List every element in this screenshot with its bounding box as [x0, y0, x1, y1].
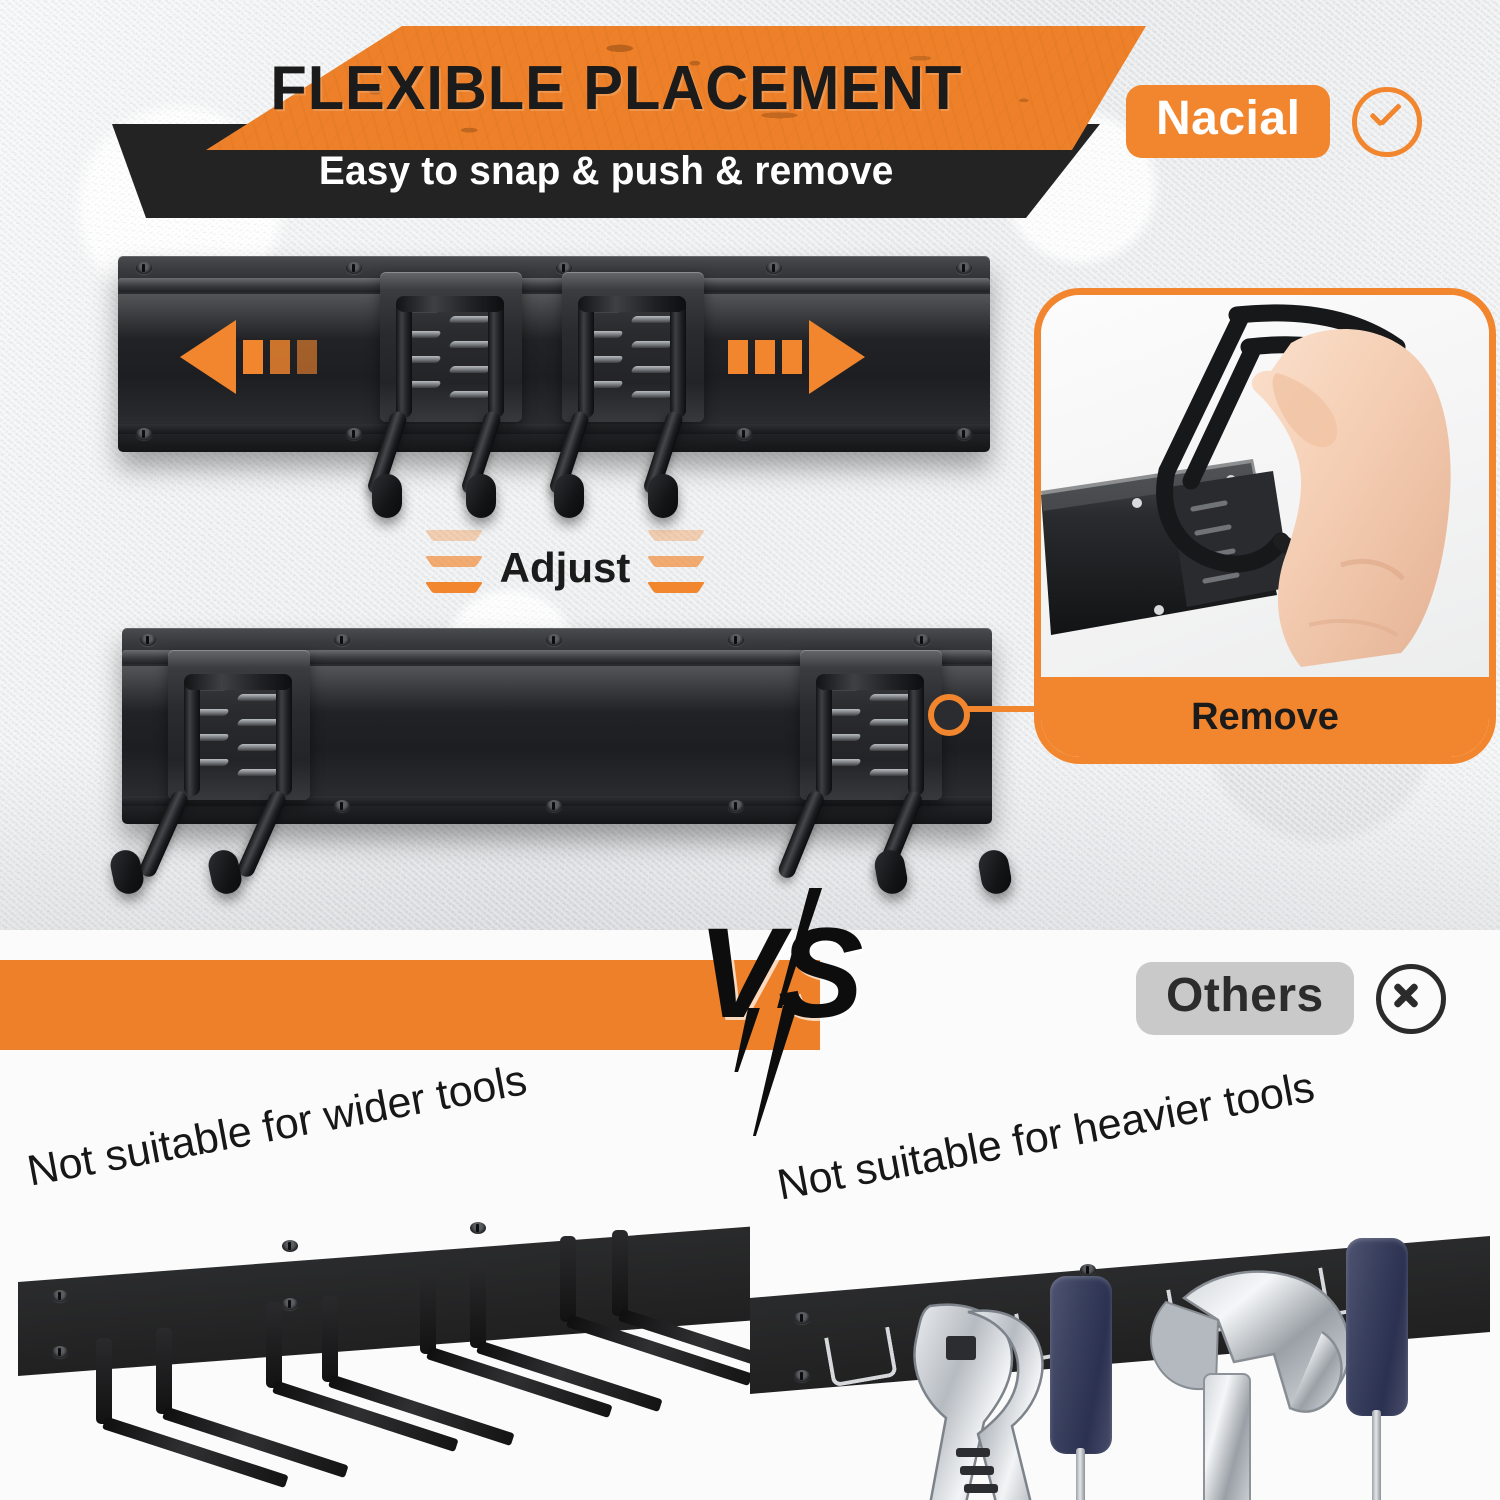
adjust-indicator: Adjust: [415, 520, 715, 616]
arrow-right-icon: [728, 320, 865, 394]
chevron-down-icon: [647, 530, 705, 550]
cluster-bar: [396, 296, 412, 418]
screw-icon: [956, 262, 972, 274]
prong-post: [96, 1338, 112, 1424]
versus-label: VS: [668, 900, 888, 1047]
remove-label: Remove: [1191, 696, 1339, 739]
hook-cluster[interactable]: [168, 650, 310, 836]
comparison-wider-tools: Not suitable for wider tools: [0, 1040, 750, 1500]
headline-text: FLEXIBLE PLACEMENT: [270, 53, 962, 124]
wider-tools-caption: Not suitable for wider tools: [24, 1056, 531, 1197]
brand-badge: Nacial: [1126, 85, 1422, 158]
cluster-slats: [188, 684, 288, 784]
screw-icon: [794, 1312, 810, 1324]
screw-icon: [52, 1346, 68, 1358]
screw-icon: [346, 428, 362, 440]
screw-icon: [282, 1298, 298, 1310]
screw-icon: [136, 262, 152, 274]
hand-removing-hook-illustration: [1041, 295, 1475, 677]
chevron-group-right: [647, 530, 705, 610]
cluster-bar: [670, 296, 686, 418]
remove-photo: [1041, 295, 1489, 677]
product-rail-centered: [118, 256, 990, 452]
hook-tip: [466, 474, 496, 518]
prong-post: [560, 1236, 576, 1322]
screw-icon: [140, 634, 156, 646]
comparison-heavier-tools: Not suitable for heavier tools: [750, 1040, 1500, 1500]
chevron-group-left: [425, 530, 483, 610]
prong-post: [612, 1230, 628, 1316]
prong-post: [266, 1302, 282, 1388]
screw-icon: [546, 800, 562, 812]
cluster-bar: [908, 674, 924, 796]
chevron-down-icon: [647, 556, 705, 576]
screw-icon: [334, 634, 350, 646]
brand-label: Nacial: [1156, 91, 1300, 146]
callout-anchor-marker: [928, 694, 970, 736]
cluster-bar: [816, 674, 832, 796]
subline-text: Easy to snap & push & remove: [319, 149, 894, 194]
screw-icon: [728, 800, 744, 812]
screw-icon: [52, 1290, 68, 1302]
rail-top-lip: [118, 278, 990, 292]
banner-subline: Easy to snap & push & remove: [86, 124, 1126, 218]
cluster-slats: [400, 306, 500, 406]
hook-tip: [554, 474, 584, 518]
hook-tip: [372, 474, 402, 518]
chevron-down-icon: [647, 582, 705, 602]
remove-callout-panel: Remove: [1034, 288, 1496, 764]
prong-post: [322, 1296, 338, 1382]
prong-post: [420, 1268, 436, 1354]
cluster-bar-top: [816, 674, 924, 690]
check-circle-icon: [1352, 87, 1422, 157]
adjust-label: Adjust: [500, 544, 631, 592]
screw-icon: [470, 1222, 486, 1234]
cluster-bar-top: [578, 296, 686, 312]
remove-label-bar: Remove: [1041, 677, 1489, 757]
screw-icon: [334, 800, 350, 812]
chevron-down-icon: [425, 556, 483, 576]
heavier-tools-caption: Not suitable for heavier tools: [774, 1063, 1319, 1210]
brand-pill: Nacial: [1126, 85, 1330, 158]
screw-icon: [136, 428, 152, 440]
cluster-bar-top: [184, 674, 292, 690]
screw-icon: [794, 1370, 810, 1382]
rail-bottom-lip: [118, 424, 990, 434]
infographic-canvas: FLEXIBLE PLACEMENT Easy to snap & push &…: [0, 0, 1500, 1500]
cluster-bar: [184, 674, 200, 796]
cluster-bar-top: [396, 296, 504, 312]
hook-cluster[interactable]: [380, 272, 522, 458]
hook-cluster[interactable]: [562, 272, 704, 458]
screw-icon: [736, 428, 752, 440]
cluster-bar: [488, 296, 504, 418]
cluster-slats: [582, 306, 682, 406]
arrow-left-icon: [180, 320, 317, 394]
header-banner: FLEXIBLE PLACEMENT Easy to snap & push &…: [86, 26, 1146, 206]
others-badge: Others: [1136, 962, 1446, 1035]
screw-icon: [1080, 1264, 1096, 1276]
hook-cluster[interactable]: [800, 650, 942, 836]
screw-icon: [766, 262, 782, 274]
screw-icon: [728, 634, 744, 646]
cluster-bar: [578, 296, 594, 418]
prong-post: [156, 1328, 172, 1414]
prong-post: [470, 1262, 486, 1348]
screw-icon: [282, 1240, 298, 1252]
chevron-down-icon: [425, 582, 483, 602]
screw-icon: [914, 634, 930, 646]
chevron-down-icon: [425, 530, 483, 550]
competitor-panel-left: [18, 1226, 750, 1376]
cluster-bar: [276, 674, 292, 796]
others-label: Others: [1166, 968, 1324, 1023]
hook-tip: [648, 474, 678, 518]
cluster-slats: [820, 684, 920, 784]
screw-icon: [956, 428, 972, 440]
screw-icon: [346, 262, 362, 274]
screw-icon: [546, 634, 562, 646]
others-pill: Others: [1136, 962, 1354, 1035]
x-circle-icon: [1376, 964, 1446, 1034]
